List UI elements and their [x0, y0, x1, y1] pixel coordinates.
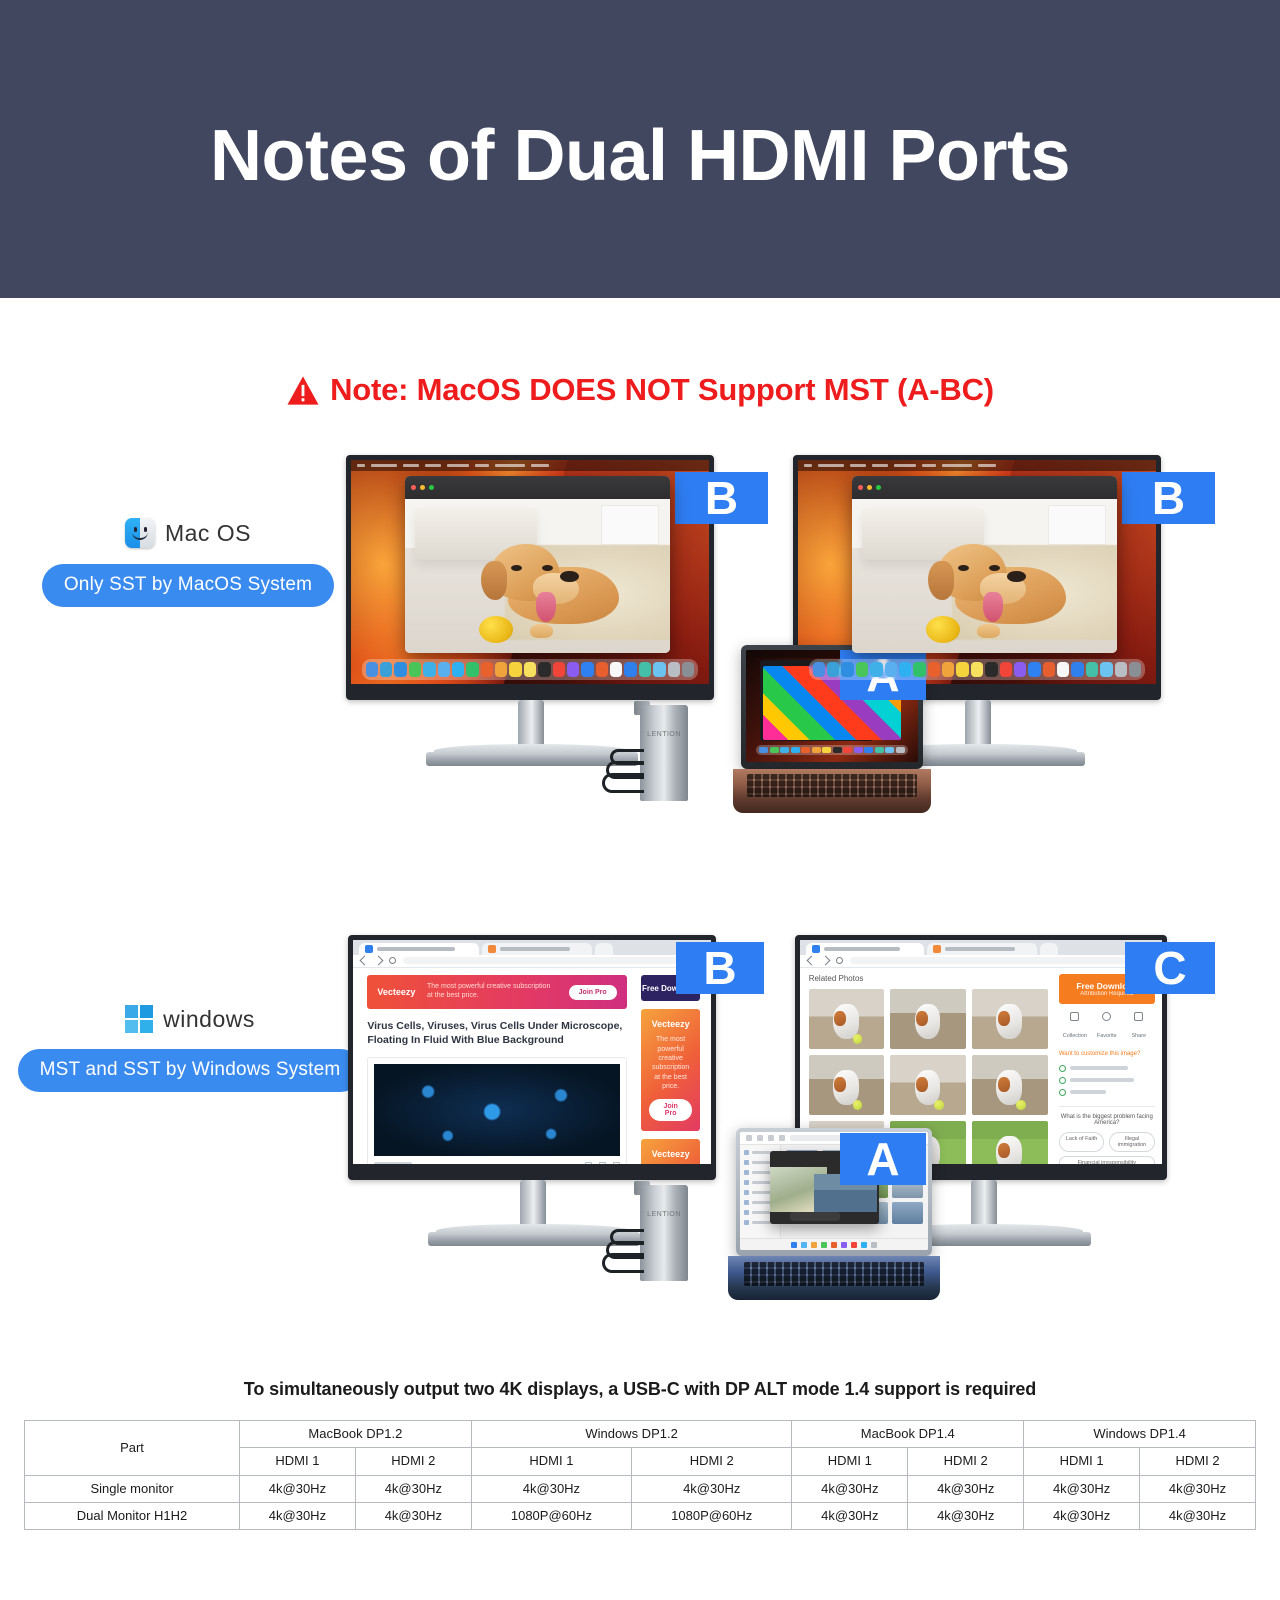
table-subheader: HDMI 2 [908, 1448, 1024, 1475]
vecteezy-headline: Virus Cells, Viruses, Virus Cells Under … [367, 1019, 626, 1047]
badge-win-right-C: C [1125, 942, 1215, 994]
forward-icon[interactable] [374, 956, 384, 966]
macbook-dock[interactable] [756, 745, 907, 755]
comment-icon[interactable] [585, 1162, 592, 1165]
macbook-keys [747, 774, 917, 797]
asset-meta-row [374, 1162, 619, 1165]
photo-thumb[interactable] [972, 989, 1048, 1049]
table-header-row-1: Part MacBook DP1.2 Windows DP1.2 MacBook… [25, 1421, 1256, 1448]
customize-image-note[interactable]: Want to customize this image? [1059, 1051, 1155, 1057]
windows-monitor-left-screen: Vecteezy The most powerful creative subs… [353, 940, 711, 1164]
table-cell: 4k@30Hz [471, 1475, 631, 1502]
browser-new-tab-button[interactable] [1040, 943, 1058, 954]
table-cell: 4k@30Hz [792, 1502, 908, 1529]
windows-docking-station: LENTION [614, 1185, 718, 1297]
macos-name-label: Mac OS [165, 520, 251, 547]
share-icon[interactable] [613, 1162, 620, 1165]
like-icon[interactable] [599, 1162, 606, 1165]
vecteezy-ad-brand: Vecteezy [377, 987, 415, 997]
photo-thumb[interactable] [972, 1121, 1048, 1164]
heart-icon [1102, 1012, 1111, 1021]
mac-monitor-right-screen [798, 460, 1156, 684]
windows-header: windows [125, 1005, 255, 1033]
reload-icon[interactable] [836, 957, 843, 964]
asset-action-row: Collection Favorite Share [1059, 1012, 1155, 1042]
promo-brand: Vecteezy [649, 1019, 692, 1029]
vecteezy-page-body: Vecteezy The most powerful creative subs… [353, 968, 711, 1164]
preview-window[interactable] [405, 476, 670, 653]
address-bar[interactable] [850, 957, 1154, 964]
badge-mac-right-B: B [1122, 472, 1215, 524]
page-header-banner: Notes of Dual HDMI Ports [0, 0, 1280, 298]
table-subheader: HDMI 2 [355, 1448, 471, 1475]
dock-cable-3 [602, 1253, 644, 1273]
asset-sidebar: Free Download Attribution Required Colle… [1053, 968, 1162, 1164]
table-header-part: Part [25, 1421, 240, 1476]
macos-header: Mac OS [125, 518, 251, 548]
info-icon [1059, 1077, 1066, 1084]
macbook-keyboard-base[interactable] [733, 769, 931, 813]
virus-cells-image [374, 1064, 619, 1156]
browser-tab-strip[interactable] [800, 940, 1162, 955]
poll-question: What is the biggest problem facing Ameri… [1059, 1114, 1155, 1126]
dog-photo [852, 499, 1117, 653]
browser-tab[interactable] [359, 943, 479, 954]
reload-icon[interactable] [389, 957, 396, 964]
browser-omnibox-row[interactable] [353, 955, 711, 968]
browser-tab-strip[interactable] [353, 940, 711, 955]
mac-monitor-left-frame [346, 455, 714, 700]
vecteezy-main-column: Vecteezy The most powerful creative subs… [353, 968, 634, 1164]
table-group-macbook-dp14: MacBook DP1.4 [792, 1421, 1024, 1448]
table-cell: 4k@30Hz [1140, 1475, 1256, 1502]
macos-menu-bar [351, 460, 709, 471]
vecteezy-asset-card [367, 1057, 626, 1165]
table-subheader: HDMI 1 [240, 1448, 356, 1475]
finder-icon [125, 518, 155, 548]
back-icon[interactable] [360, 956, 370, 966]
promo-join-pro-button[interactable]: Join Pro [649, 1099, 692, 1121]
license-info-list [1059, 1065, 1155, 1096]
browser-tab[interactable] [927, 943, 1037, 954]
table-subheader: HDMI 2 [632, 1448, 792, 1475]
windows-taskbar[interactable] [740, 1238, 928, 1250]
mac-monitor-left-stand-base [426, 752, 638, 766]
macos-menu-bar [798, 460, 1156, 471]
badge-win-laptop-A: A [840, 1133, 926, 1185]
table-cell: 4k@30Hz [908, 1475, 1024, 1502]
table-row: Single monitor 4k@30Hz 4k@30Hz 4k@30Hz 4… [25, 1475, 1256, 1502]
poll-option[interactable]: Illegal immigration [1109, 1132, 1154, 1152]
badge-win-left-B: B [676, 942, 764, 994]
favorite-action[interactable]: Favorite [1091, 1012, 1123, 1042]
table-subheader: HDMI 1 [792, 1448, 908, 1475]
back-icon[interactable] [807, 956, 817, 966]
table-subheader: HDMI 1 [471, 1448, 631, 1475]
table-cell: 4k@30Hz [632, 1475, 792, 1502]
share-icon [1134, 1012, 1143, 1021]
table-group-macbook-dp12: MacBook DP1.2 [240, 1421, 472, 1448]
browser-omnibox-row[interactable] [800, 955, 1162, 968]
table-cell: 4k@30Hz [355, 1475, 471, 1502]
windows-logo-icon [125, 1005, 153, 1033]
macos-dock[interactable] [362, 659, 699, 679]
photo-controls-bar[interactable] [790, 1212, 840, 1221]
vecteezy-promo-card[interactable]: Vecteezy The most powerful creative subs… [641, 1009, 700, 1131]
table-subheader: HDMI 1 [1024, 1448, 1140, 1475]
table-caption: To simultaneously output two 4K displays… [0, 1379, 1280, 1400]
table-cell: 4k@30Hz [908, 1502, 1024, 1529]
dock-cable-3 [602, 773, 644, 793]
dock-body [640, 1185, 688, 1281]
address-bar[interactable] [403, 957, 703, 964]
vecteezy-sidebar: Free Download Vecteezy The most powerful… [634, 968, 711, 1164]
vecteezy-promo-card-2[interactable]: Vecteezy The most powerful creative subs… [641, 1139, 700, 1164]
warning-triangle-icon [286, 375, 320, 406]
collection-icon [1070, 1012, 1079, 1021]
table-cell: 4k@30Hz [355, 1502, 471, 1529]
table-row-label: Single monitor [25, 1475, 240, 1502]
preview-titlebar [852, 476, 1117, 499]
photo-thumb[interactable] [972, 1055, 1048, 1115]
mac-monitor-left-screen [351, 460, 709, 684]
preview-window[interactable] [852, 476, 1117, 653]
dog-photo [405, 499, 670, 653]
windows-mst-sst-pill: MST and SST by Windows System [18, 1049, 363, 1092]
forward-icon[interactable] [821, 956, 831, 966]
join-pro-button[interactable]: Join Pro [569, 985, 617, 1000]
vecteezy-top-banner-ad[interactable]: Vecteezy The most powerful creative subs… [367, 975, 626, 1009]
clock-icon [1059, 1089, 1066, 1096]
macos-dock[interactable] [809, 659, 1146, 679]
windows-name-label: windows [163, 1006, 255, 1033]
poll-option[interactable]: Financial irresponsibility [1059, 1156, 1155, 1164]
chrome-browser-vecteezy-detail: Vecteezy The most powerful creative subs… [353, 940, 711, 1164]
table-cell: 1080P@60Hz [632, 1502, 792, 1529]
photo-thumb[interactable] [809, 989, 885, 1049]
dock-brand-label: LENTION [642, 731, 686, 739]
browser-new-tab-button[interactable] [595, 943, 613, 954]
poll-option[interactable]: Lack of Faith [1059, 1132, 1104, 1152]
promo-brand-2: Vecteezy [649, 1149, 692, 1159]
browser-tab[interactable] [482, 943, 592, 954]
table-cell: 4k@30Hz [1024, 1475, 1140, 1502]
badge-mac-left-B: B [675, 472, 768, 524]
table-cell: 4k@30Hz [792, 1475, 908, 1502]
table-row-label: Dual Monitor H1H2 [25, 1502, 240, 1529]
table-cell: 4k@30Hz [1024, 1502, 1140, 1529]
mst-warning-note: Note: MacOS DOES NOT Support MST (A-BC) [0, 372, 1280, 408]
dock-body [640, 705, 688, 801]
table-row: Dual Monitor H1H2 4k@30Hz 4k@30Hz 1080P@… [25, 1502, 1256, 1529]
table-group-windows-dp14: Windows DP1.4 [1024, 1421, 1256, 1448]
related-photos-label: Related Photos [809, 974, 1048, 983]
dock-brand-label: LENTION [642, 1211, 686, 1219]
table-group-windows-dp12: Windows DP1.2 [471, 1421, 792, 1448]
table-cell: 4k@30Hz [1140, 1502, 1256, 1529]
share-action[interactable]: Share [1123, 1012, 1155, 1042]
windows-laptop-keyboard-base[interactable] [728, 1256, 940, 1300]
table-cell: 4k@30Hz [240, 1502, 356, 1529]
windows-monitor-left-frame: Vecteezy The most powerful creative subs… [348, 935, 716, 1180]
macos-label-column: Mac OS Only SST by MacOS System [48, 518, 328, 607]
windows-laptop-keys [744, 1262, 924, 1286]
table-subheader: HDMI 2 [1140, 1448, 1256, 1475]
browser-tab[interactable] [806, 943, 924, 954]
mst-warning-text: Note: MacOS DOES NOT Support MST (A-BC) [330, 372, 994, 408]
hdmi-spec-table: Part MacBook DP1.2 Windows DP1.2 MacBook… [24, 1420, 1256, 1530]
promo-text: The most powerful creative subscription … [649, 1035, 692, 1092]
poll-widget: What is the biggest problem facing Ameri… [1059, 1106, 1155, 1164]
collection-action[interactable]: Collection [1059, 1012, 1091, 1042]
mac-monitor-right-frame [793, 455, 1161, 700]
macos-sst-pill: Only SST by MacOS System [42, 564, 334, 607]
photo-thumb[interactable] [809, 1055, 885, 1115]
vecteezy-ad-text: The most powerful creative subscription … [427, 983, 557, 1001]
check-icon [1059, 1065, 1066, 1072]
mac-docking-station: LENTION [614, 705, 718, 817]
photo-thumb[interactable] [890, 1055, 966, 1115]
windows-label-column: windows MST and SST by Windows System [30, 1005, 350, 1092]
preview-titlebar [405, 476, 670, 499]
page-title: Notes of Dual HDMI Ports [210, 106, 1070, 192]
photo-thumb[interactable] [890, 989, 966, 1049]
table-cell: 1080P@60Hz [471, 1502, 631, 1529]
table-cell: 4k@30Hz [240, 1475, 356, 1502]
